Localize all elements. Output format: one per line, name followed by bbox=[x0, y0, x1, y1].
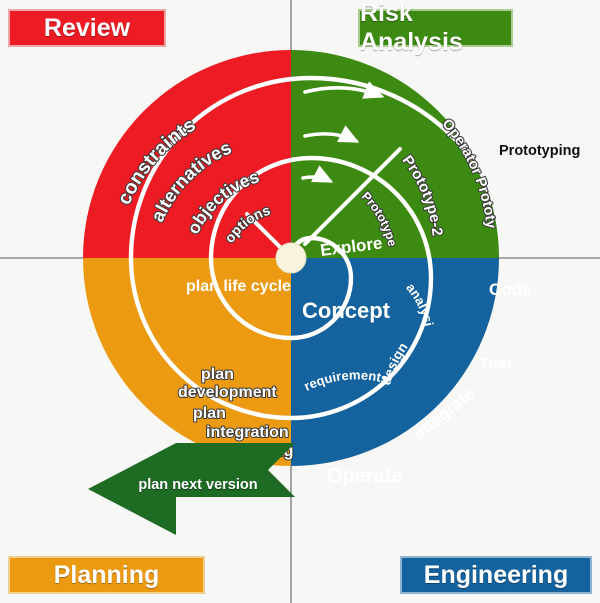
plan-next-version-arrow bbox=[88, 443, 295, 535]
quadrant-label-planning-text: Planning bbox=[54, 561, 160, 590]
quadrant-label-planning: Planning bbox=[8, 556, 205, 594]
quadrant-label-review-text: Review bbox=[44, 14, 130, 43]
prototyping-annotation: Prototyping bbox=[499, 143, 580, 159]
engineering-label-code: Code bbox=[489, 280, 532, 299]
planning-label-development: development bbox=[178, 384, 277, 401]
quadrant-label-engineering-text: Engineering bbox=[424, 561, 568, 590]
quadrant-label-review: Review bbox=[8, 9, 166, 47]
quadrant-fills bbox=[0, 0, 600, 603]
planning-label-integration: integration bbox=[206, 424, 289, 441]
planning-label-plan-2: plan bbox=[193, 405, 226, 422]
engineering-label-operate: Operate bbox=[327, 465, 403, 487]
spiral-model-diagram: constraints alternatives objectives opti… bbox=[0, 0, 600, 603]
spiral-graphic: constraints alternatives objectives opti… bbox=[0, 0, 600, 603]
quadrant-label-engineering: Engineering bbox=[400, 556, 592, 594]
planning-label-plan-life-cycle: plan life cycle bbox=[186, 278, 291, 295]
planning-label-plan-1: plan bbox=[201, 366, 234, 383]
quadrant-label-risk-analysis: Risk Analysis bbox=[358, 9, 513, 47]
engineering-label-concept: Concept bbox=[302, 298, 391, 323]
spiral-center-hub bbox=[276, 243, 306, 273]
quadrant-label-risk-analysis-text: Risk Analysis bbox=[360, 0, 511, 57]
engineering-label-test: Test bbox=[479, 354, 513, 373]
